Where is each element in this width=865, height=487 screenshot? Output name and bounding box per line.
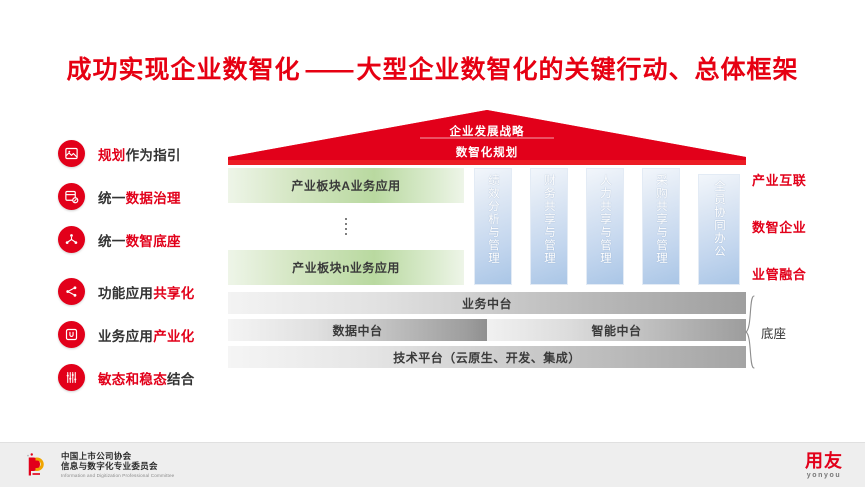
footer-org: 中国上市公司协会 信息与数字化专业委员会 Information and Dig… bbox=[22, 450, 174, 480]
bar-midplatform-split: 数据中台 智能中台 bbox=[228, 319, 746, 341]
sidebar-item-label: 功能应用共享化 bbox=[98, 282, 195, 302]
bar-ai-midplatform-label: 智能中台 bbox=[591, 322, 641, 339]
title-part-1: 成功实现企业数智化 bbox=[67, 56, 301, 84]
share-nodes-icon bbox=[58, 278, 85, 305]
title-dash: —— bbox=[301, 56, 357, 84]
vertical-ellipsis-dots bbox=[345, 216, 347, 237]
curly-brace-icon bbox=[744, 294, 758, 370]
foundation-bars: 业务中台 数据中台 智能中台 技术平台（云原生、开发、集成） bbox=[228, 292, 746, 373]
database-settings-icon bbox=[58, 183, 85, 210]
app-box-icon bbox=[58, 321, 85, 348]
sidebar-item-smart-base[interactable]: 统一数智底座 bbox=[58, 224, 228, 255]
column-collaboration[interactable]: 全员协同办公 bbox=[698, 174, 740, 285]
image-plan-icon bbox=[58, 140, 85, 167]
right-label-industry-internet: 产业互联 bbox=[752, 170, 806, 188]
footer-org-line2: 信息与数字化专业委员会 bbox=[61, 462, 174, 472]
pillars-row: 产业板块A业务应用 产业板块n业务应用 绩效分析与管理 财务共享与管理 bbox=[228, 168, 746, 285]
industry-panel-n[interactable]: 产业板块n业务应用 bbox=[228, 250, 464, 285]
roof-strategy-label: 企业发展战略 bbox=[228, 123, 746, 139]
industry-panel-n-label: 产业板块n业务应用 bbox=[292, 259, 400, 276]
right-annotations: 产业互联 数智企业 业管融合 bbox=[752, 170, 806, 282]
industry-panel-a-label: 产业板块A业务应用 bbox=[291, 177, 400, 194]
footer-divider bbox=[0, 442, 865, 443]
title-part-2: 大型企业数智化的关键行动、总体框架 bbox=[356, 56, 798, 84]
roof-pediment: 企业发展战略 数智化规划 bbox=[228, 110, 746, 165]
shared-service-columns: 绩效分析与管理 财务共享与管理 人力共享与管理 采购共享与管理 全员协同办公 bbox=[474, 168, 746, 285]
column-finance[interactable]: 财务共享与管理 bbox=[530, 168, 568, 285]
sidebar: 规划作为指引 统一数据治理 bbox=[58, 138, 228, 405]
column-collaboration-label: 全员协同办公 bbox=[711, 180, 727, 258]
casc-logo-icon bbox=[22, 450, 52, 480]
sidebar-item-business-industrialization[interactable]: 业务应用产业化 bbox=[58, 319, 228, 350]
foundation-brace-group: 底座 bbox=[744, 292, 824, 372]
temple-diagram: 企业发展战略 数智化规划 产业板块A业务应用 产业板块n业务应用 bbox=[228, 110, 746, 380]
sidebar-item-label: 统一数据治理 bbox=[98, 187, 181, 207]
bar-data-midplatform[interactable]: 数据中台 bbox=[228, 319, 487, 341]
column-procurement-label: 采购共享与管理 bbox=[653, 174, 669, 265]
yonyou-logo-sub: yonyou bbox=[805, 472, 843, 479]
column-performance-label: 绩效分析与管理 bbox=[485, 174, 501, 265]
yonyou-logo-text: 用友 bbox=[805, 452, 843, 470]
footer-org-text: 中国上市公司协会 信息与数字化专业委员会 Information and Dig… bbox=[61, 452, 174, 478]
bar-business-midplatform[interactable]: 业务中台 bbox=[228, 292, 746, 314]
column-hr[interactable]: 人力共享与管理 bbox=[586, 168, 624, 285]
industry-panel-a[interactable]: 产业板块A业务应用 bbox=[228, 168, 464, 203]
sliders-icon bbox=[58, 364, 85, 391]
footer-bar: 中国上市公司协会 信息与数字化专业委员会 Information and Dig… bbox=[0, 442, 865, 487]
foundation-brace-label: 底座 bbox=[761, 323, 786, 342]
page-title: 成功实现企业数智化 —— 大型企业数智化的关键行动、总体框架 bbox=[0, 50, 865, 86]
right-label-business-management-fusion: 业管融合 bbox=[752, 264, 806, 282]
roof-planning-label: 数智化规划 bbox=[228, 144, 746, 160]
slide-root: 成功实现企业数智化 —— 大型企业数智化的关键行动、总体框架 规划作为指引 bbox=[0, 0, 865, 487]
sidebar-item-label: 业务应用产业化 bbox=[98, 325, 195, 345]
column-procurement[interactable]: 采购共享与管理 bbox=[642, 168, 680, 285]
sidebar-item-planning[interactable]: 规划作为指引 bbox=[58, 138, 228, 169]
footer-brand: 用友 yonyou bbox=[805, 452, 843, 479]
industry-panels-group: 产业板块A业务应用 产业板块n业务应用 bbox=[228, 168, 464, 285]
sidebar-item-data-governance[interactable]: 统一数据治理 bbox=[58, 181, 228, 212]
bar-tech-platform-label: 技术平台（云原生、开发、集成） bbox=[393, 349, 581, 366]
sidebar-item-function-sharing[interactable]: 功能应用共享化 bbox=[58, 276, 228, 307]
sidebar-item-agile-stable[interactable]: 敏态和稳态结合 bbox=[58, 362, 228, 393]
sidebar-item-label: 规划作为指引 bbox=[98, 144, 181, 164]
column-finance-label: 财务共享与管理 bbox=[541, 174, 557, 265]
column-hr-label: 人力共享与管理 bbox=[597, 174, 613, 265]
bar-ai-midplatform[interactable]: 智能中台 bbox=[487, 319, 746, 341]
bar-business-midplatform-label: 业务中台 bbox=[462, 295, 512, 312]
bar-tech-platform[interactable]: 技术平台（云原生、开发、集成） bbox=[228, 346, 746, 368]
column-performance[interactable]: 绩效分析与管理 bbox=[474, 168, 512, 285]
sidebar-item-label: 敏态和稳态结合 bbox=[98, 368, 195, 388]
network-nodes-icon bbox=[58, 226, 85, 253]
bar-data-midplatform-label: 数据中台 bbox=[332, 322, 382, 339]
right-label-smart-enterprise: 数智企业 bbox=[752, 217, 806, 235]
vertical-ellipsis bbox=[228, 203, 464, 250]
sidebar-item-label: 统一数智底座 bbox=[98, 230, 181, 250]
footer-org-line3: Information and Digitization Professiona… bbox=[61, 473, 174, 478]
